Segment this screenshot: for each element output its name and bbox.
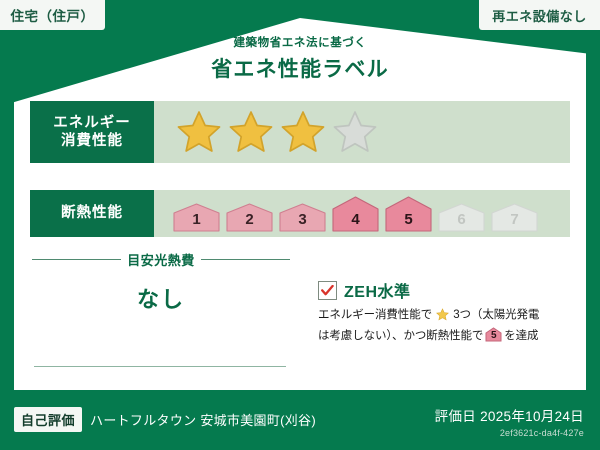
grade-badge-inline-num: 5 xyxy=(485,331,502,341)
energy-rating-value xyxy=(154,101,570,163)
insulation-label: 断熱性能 xyxy=(61,204,123,222)
energy-performance-label-box: エネルギー 消費性能 xyxy=(30,101,154,163)
insulation-grade-number: 5 xyxy=(384,212,433,227)
star-icon-filled xyxy=(280,109,326,155)
grade-badge-inline: 5 xyxy=(485,327,502,342)
zeh-standard-block: ZEH水準 エネルギー消費性能で 3つ（太陽光発電 は考慮しない）、かつ断熱性能… xyxy=(318,278,570,346)
energy-label-line1: エネルギー xyxy=(53,114,131,132)
energy-performance-row: エネルギー 消費性能 xyxy=(30,101,570,163)
insulation-performance-label-box: 断熱性能 xyxy=(30,190,154,237)
zeh-description: エネルギー消費性能で 3つ（太陽光発電 は考慮しない）、かつ断熱性能で 5 を達… xyxy=(318,307,570,346)
insulation-grade-4: 4 xyxy=(331,196,380,232)
zeh-desc-part1: エネルギー消費性能で xyxy=(318,309,432,321)
utility-cost-heading-text: 目安光熱費 xyxy=(127,250,195,269)
insulation-grade-5: 5 xyxy=(384,196,433,232)
insulation-grade-number: 6 xyxy=(437,212,486,227)
footer-right: 評価日 2025年10月24日 2ef3621c-da4f-427e xyxy=(435,405,584,438)
page-title: 建築物省エネ法に基づく 省エネ性能ラベル xyxy=(0,34,600,83)
insulation-grade-number: 4 xyxy=(331,212,380,227)
housing-type-badge: 住宅（住戸） xyxy=(0,0,105,30)
insulation-grade-number: 7 xyxy=(490,212,539,227)
check-icon xyxy=(318,281,337,300)
star-icon-empty xyxy=(332,109,378,155)
renewable-equipment-badge: 再エネ設備なし xyxy=(479,0,600,30)
star-icon-inline xyxy=(433,312,452,324)
star-rating xyxy=(176,109,378,155)
insulation-grade-number: 1 xyxy=(172,212,221,227)
document-id: 2ef3621c-da4f-427e xyxy=(435,428,584,438)
housing-type-text: 住宅（住戸） xyxy=(11,5,95,25)
insulation-grade-7: 7 xyxy=(490,203,539,232)
zeh-desc-star-count: 3つ（太陽光発電 xyxy=(453,309,539,321)
insulation-performance-row: 断熱性能 1234567 xyxy=(30,190,570,237)
insulation-rating-value: 1234567 xyxy=(154,190,570,237)
insulation-grade-1: 1 xyxy=(172,203,221,232)
zeh-title-text: ZEH水準 xyxy=(344,278,411,302)
energy-label-line2: 消費性能 xyxy=(61,132,123,150)
self-evaluation-badge: 自己評価 xyxy=(14,407,82,432)
evaluation-date: 評価日 2025年10月24日 xyxy=(435,405,584,425)
renewable-equipment-text: 再エネ設備なし xyxy=(492,6,587,25)
insulation-grade-2: 2 xyxy=(225,203,274,232)
zeh-desc-part2: は考慮しない）、かつ断熱性能で xyxy=(318,330,483,342)
footer-left: 自己評価 ハートフルタウン 安城市美園町(刈谷) xyxy=(14,407,316,432)
cost-rule-left xyxy=(32,259,121,260)
footer: 自己評価 ハートフルタウン 安城市美園町(刈谷) 評価日 2025年10月24日… xyxy=(0,398,600,450)
insulation-grade-number: 3 xyxy=(278,212,327,227)
zeh-title-row: ZEH水準 xyxy=(318,278,570,302)
insulation-grade-6: 6 xyxy=(437,203,486,232)
title-subtitle: 建築物省エネ法に基づく xyxy=(0,34,600,50)
utility-cost-value: なし xyxy=(32,282,290,314)
title-main: 省エネ性能ラベル xyxy=(0,53,600,83)
project-name: ハートフルタウン 安城市美園町(刈谷) xyxy=(90,410,316,429)
utility-cost-heading: 目安光熱費 xyxy=(32,250,290,269)
insulation-grade-3: 3 xyxy=(278,203,327,232)
cost-rule-right xyxy=(201,259,290,260)
utility-cost-underline xyxy=(34,366,286,367)
star-icon-filled xyxy=(228,109,274,155)
energy-performance-label: 住宅（住戸） 再エネ設備なし 建築物省エネ法に基づく 省エネ性能ラベル エネルギ… xyxy=(0,0,600,450)
insulation-grade-number: 2 xyxy=(225,212,274,227)
star-icon-filled xyxy=(176,109,222,155)
insulation-grade-scale: 1234567 xyxy=(172,196,539,232)
zeh-desc-part3: を達成 xyxy=(504,330,538,342)
